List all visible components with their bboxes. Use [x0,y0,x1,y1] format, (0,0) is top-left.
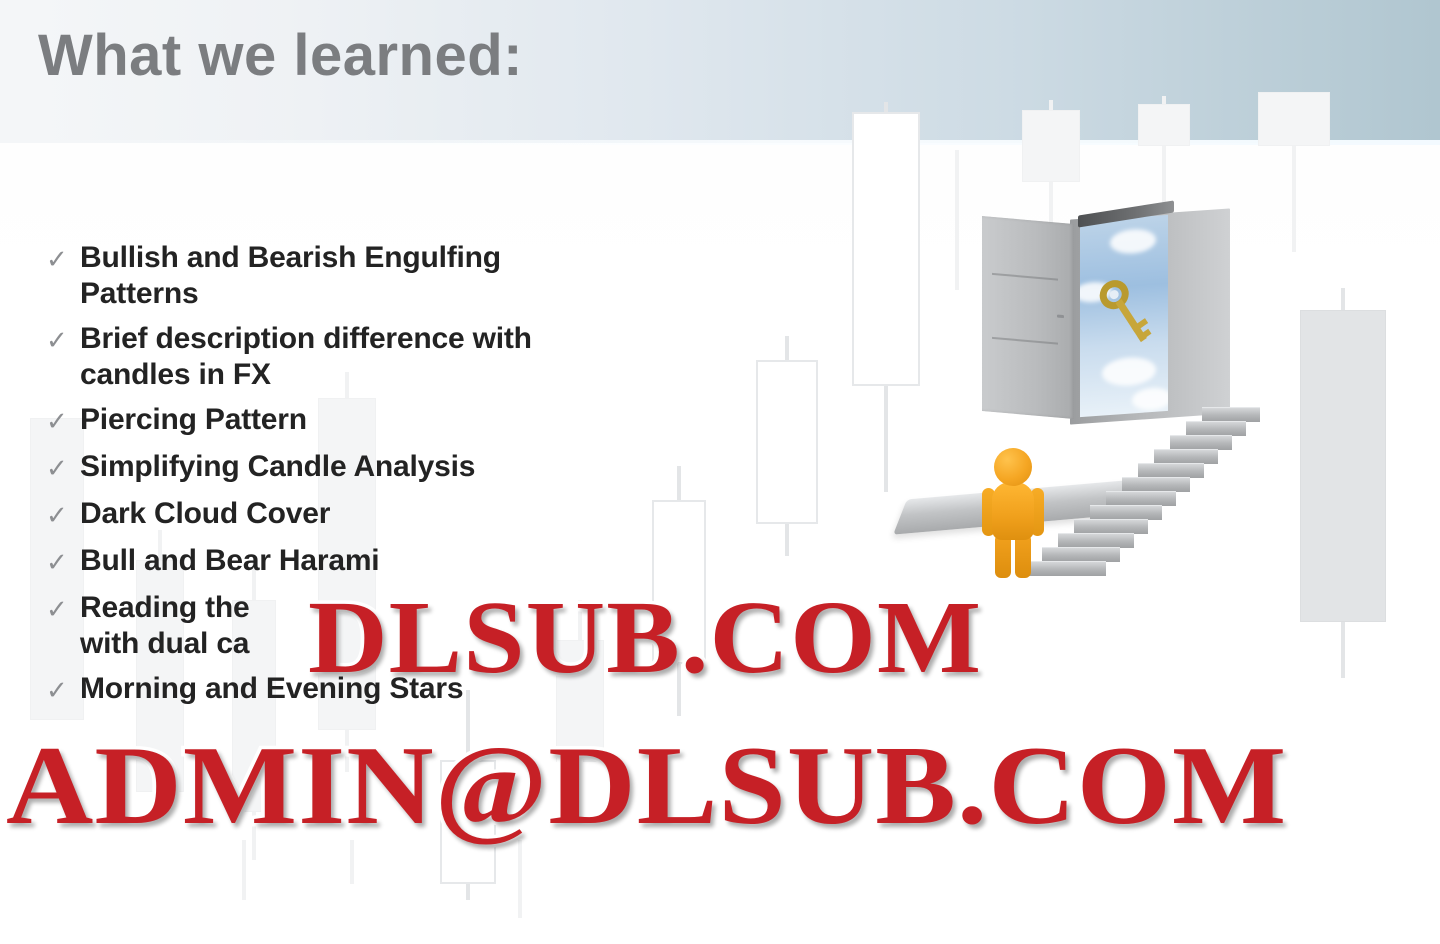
list-item-label: Reading thewith dual ca [80,590,249,662]
candlestick-body [756,360,818,524]
list-item: ✓Dark Cloud Cover [46,496,706,534]
check-icon: ✓ [46,240,80,278]
door-panel-line [992,273,1058,281]
door-panel-line [992,337,1058,345]
list-item: ✓Brief description difference withcandle… [46,321,706,393]
check-icon: ✓ [46,590,80,628]
slide-canvas: What we learned: ✓Bullish and Bearish En… [0,0,1440,944]
list-item: ✓Piercing Pattern [46,402,706,440]
candlestick [756,360,818,580]
candlestick [852,112,920,502]
stair-step [1058,533,1134,548]
list-item-label: Piercing Pattern [80,402,307,438]
watermark-site: DLSUB.COM [308,578,982,697]
list-item-label: Dark Cloud Cover [80,496,330,532]
list-item-label: Simplifying Candle Analysis [80,449,475,485]
list-item-line2: Patterns [80,276,501,312]
check-icon: ✓ [46,496,80,534]
list-item: ✓Bullish and Bearish EngulfingPatterns [46,240,706,312]
list-item-label: Bull and Bear Harami [80,543,379,579]
list-item-line1: Reading the [80,591,249,624]
open-door-panel [982,216,1074,419]
list-item-label: Brief description difference withcandles… [80,321,532,393]
doorway-sky [1080,215,1168,417]
list-item-line2: candles in FX [80,357,532,393]
list-item-line1: Brief description difference with [80,322,532,355]
figure-leg-left [995,534,1011,578]
watermark-email: ADMIN@DLSUB.COM [6,722,1287,851]
candlestick-body [1138,104,1190,146]
stair-step [1090,505,1162,520]
candlestick-body [1258,92,1330,146]
figure-torso [992,482,1034,540]
stair-step [1042,547,1120,562]
door-stairs-illustration [930,190,1330,750]
list-item: ✓Simplifying Candle Analysis [46,449,706,487]
stair-step [1122,477,1190,492]
candlestick-body [852,112,920,386]
list-item-line1: Simplifying Candle Analysis [80,450,475,483]
stair-step [1202,407,1260,422]
candlestick-wick [518,840,522,918]
cloud-icon [1110,228,1156,255]
stair-step [1154,449,1218,464]
candlestick [516,840,524,918]
page-title: What we learned: [38,22,523,89]
list-item: ✓Bull and Bear Harami [46,543,706,581]
list-item-line1: Piercing Pattern [80,403,307,436]
figure-head [994,448,1032,486]
list-item-line2: with dual ca [80,626,249,662]
stair-step [1106,491,1176,506]
list-item-line1: Dark Cloud Cover [80,497,330,530]
check-icon: ✓ [46,449,80,487]
figure-leg-right [1015,534,1031,578]
stair-step [1170,435,1232,450]
candlestick-body [1022,110,1080,182]
stair-step [1074,519,1148,534]
person-figure [978,448,1048,578]
check-icon: ✓ [46,543,80,581]
key-icon [1092,275,1164,357]
check-icon: ✓ [46,321,80,359]
stair-step [1138,463,1204,478]
cloud-icon [1102,356,1156,388]
check-icon: ✓ [46,671,80,709]
check-icon: ✓ [46,402,80,440]
list-item-line1: Bull and Bear Harami [80,544,379,577]
stair-step [1186,421,1246,436]
list-item-line1: Bullish and Bearish Engulfing [80,241,501,274]
door-handle [1057,315,1064,319]
list-item-label: Bullish and Bearish EngulfingPatterns [80,240,501,312]
